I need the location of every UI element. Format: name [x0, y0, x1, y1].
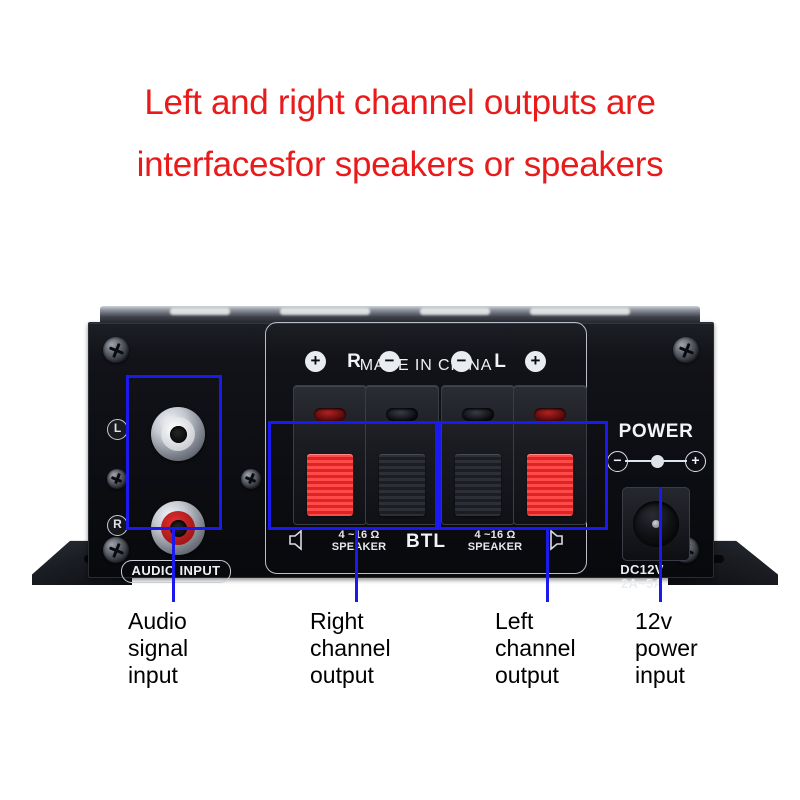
- leader-line-left-channel: [546, 530, 549, 602]
- speaker-icon-right: [287, 529, 309, 551]
- channel-letter-left: L: [489, 351, 511, 373]
- headline-banner: Left and right channel outputs are inter…: [0, 72, 800, 196]
- input-badge-right: R: [107, 515, 128, 536]
- speaker-legend-right: 4 ~16 Ω SPEAKER: [311, 529, 407, 553]
- leader-line-power-input: [659, 487, 662, 602]
- channel-letter-right: R: [343, 351, 365, 373]
- leader-line-audio-input: [172, 530, 175, 602]
- caption-audio-input: Audio signal input: [128, 608, 188, 689]
- btl-label: BTL: [400, 531, 452, 553]
- polarity-left-minus: −: [451, 351, 472, 372]
- chassis-screw-bottom-left: [103, 537, 129, 563]
- power-polarity-minus: −: [607, 451, 628, 472]
- polarity-right-plus: +: [305, 351, 326, 372]
- chassis-screw-top-right: [673, 337, 699, 363]
- speaker-terminal-panel: + R − − L +: [265, 323, 587, 577]
- dc-power-jack[interactable]: [622, 487, 690, 561]
- headline-line-1: Left and right channel outputs are: [0, 72, 800, 134]
- terminal-left-positive[interactable]: [513, 385, 587, 525]
- audio-input-label: AUDIO INPUT: [121, 560, 231, 583]
- rca-jack-left[interactable]: [151, 407, 205, 461]
- polarity-left-plus: +: [525, 351, 546, 372]
- headline-line-2: interfacesfor speakers or speakers: [0, 134, 800, 196]
- power-polarity-diagram: − +: [601, 451, 711, 473]
- dc-spec-voltage: DC12V: [620, 562, 663, 577]
- terminal-right-negative[interactable]: [365, 385, 439, 525]
- panel-screw-center-left: [241, 469, 261, 489]
- dc-power-spec: DC12V 2A~5A: [595, 563, 689, 591]
- rca-jack-right[interactable]: [151, 501, 205, 555]
- caption-left-channel: Left channel output: [495, 608, 576, 689]
- speaker-word-left: SPEAKER: [468, 541, 523, 553]
- terminal-right-positive[interactable]: [293, 385, 367, 525]
- leader-line-right-channel: [355, 530, 358, 602]
- polarity-right-minus: −: [379, 351, 400, 372]
- caption-right-channel: Right channel output: [310, 608, 391, 689]
- dc-spec-current: 2A~5A: [621, 576, 663, 591]
- product-photo: L R AUDIO INPUT MADE IN CHINA + R − − L …: [0, 288, 800, 600]
- terminal-left-negative[interactable]: [441, 385, 515, 525]
- caption-power-input: 12v power input: [635, 608, 698, 689]
- chassis-screw-top-left: [103, 337, 129, 363]
- impedance-left: 4 ~16 Ω: [474, 529, 515, 541]
- polarity-row: + R − − L +: [265, 351, 587, 373]
- power-polarity-plus: +: [685, 451, 706, 472]
- power-title: POWER: [601, 421, 711, 443]
- power-polarity-center-dot: [651, 455, 664, 468]
- input-badge-left: L: [107, 419, 128, 440]
- speaker-word-right: SPEAKER: [332, 541, 387, 553]
- amplifier-chassis: L R AUDIO INPUT MADE IN CHINA + R − − L …: [88, 322, 714, 578]
- impedance-right: 4 ~16 Ω: [338, 529, 379, 541]
- panel-screw-left-mid: [107, 469, 127, 489]
- speaker-legend-left: 4 ~16 Ω SPEAKER: [447, 529, 543, 553]
